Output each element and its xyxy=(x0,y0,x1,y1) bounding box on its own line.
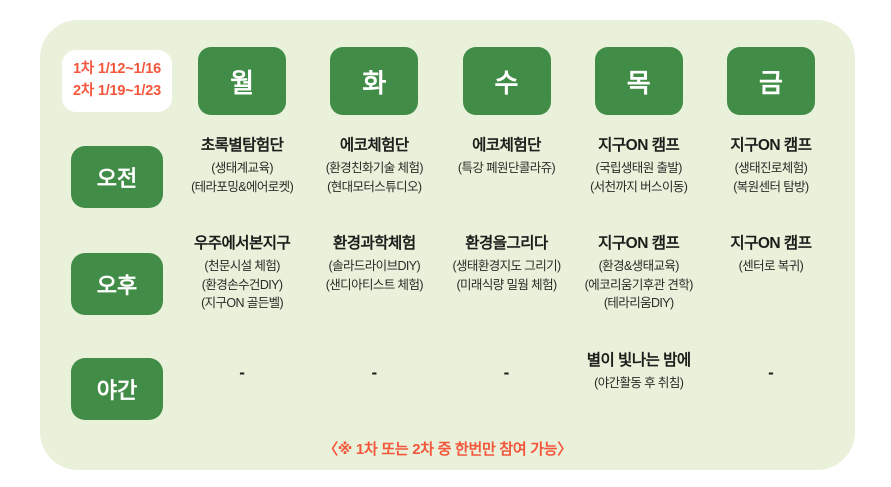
cell-afternoon-thu: 지구ON 캠프 (환경&생태교육) (에코리움기후관 견학) (테라리움DIY) xyxy=(573,226,705,341)
activity-title: 에코체험단 xyxy=(444,136,568,156)
time-chip-label: 오전 xyxy=(71,146,163,208)
cell-morning-thu: 지구ON 캠프 (국립생태원 출발) (서천까지 버스이동) xyxy=(573,128,705,226)
activity-detail: (복원센터 탐방) xyxy=(709,178,833,197)
cell-afternoon-wed: 환경을그리다 (생태환경지도 그리기) (미래식량 밀웜 체험) xyxy=(440,226,572,341)
activity-detail: (지구ON 골든벨) xyxy=(180,294,304,313)
activity-title: 지구ON 캠프 xyxy=(709,234,833,254)
day-header-mon: 월 xyxy=(176,47,308,115)
day-chip-label: 목 xyxy=(595,47,683,115)
empty-placeholder: - xyxy=(504,364,510,381)
day-header-fri: 금 xyxy=(705,47,837,115)
activity-detail: (환경친화기술 체험) xyxy=(312,159,436,178)
cell-night-thu: 별이 빛나는 밤에 (야간활동 후 취침) xyxy=(573,341,705,436)
cell-night-wed: - xyxy=(440,341,572,436)
activity-detail: (생태환경지도 그리기) xyxy=(444,257,568,276)
day-header-thu: 목 xyxy=(573,47,705,115)
day-header-wed: 수 xyxy=(440,47,572,115)
day-header-tue: 화 xyxy=(308,47,440,115)
activity-detail: (미래식량 밀웜 체험) xyxy=(444,276,568,295)
activity-title: 환경을그리다 xyxy=(444,234,568,254)
activity-detail: (생태계교육) xyxy=(180,159,304,178)
activity-detail: (솔라드라이브DIY) xyxy=(312,257,436,276)
activity-detail: (천문시설 체험) xyxy=(180,257,304,276)
time-chip-label: 오후 xyxy=(71,253,163,315)
row-label-cell: 야간 xyxy=(58,341,176,436)
activity-detail: (샌디아티스트 체험) xyxy=(312,276,436,295)
activity-title: 지구ON 캠프 xyxy=(709,136,833,156)
activity-detail: (현대모터스튜디오) xyxy=(312,178,436,197)
cell-morning-wed: 에코체험단 (특강 폐원단콜라쥬) xyxy=(440,128,572,226)
cell-afternoon-tue: 환경과학체험 (솔라드라이브DIY) (샌디아티스트 체험) xyxy=(308,226,440,341)
activity-detail: (테라리움DIY) xyxy=(577,294,701,313)
activity-detail: (야간활동 후 취침) xyxy=(594,374,683,393)
day-chip-label: 월 xyxy=(198,47,286,115)
activity-detail: (테라포밍&에어로켓) xyxy=(180,178,304,197)
cell-night-tue: - xyxy=(308,341,440,436)
legend-cell: 1차 1/12~1/16 2차 1/19~1/23 xyxy=(58,50,176,111)
activity-title: 초록별탐험단 xyxy=(180,136,304,156)
activity-detail: (생태진로체험) xyxy=(709,159,833,178)
time-chip-label: 야간 xyxy=(71,358,163,420)
cell-night-fri: - xyxy=(705,341,837,436)
schedule-card: 1차 1/12~1/16 2차 1/19~1/23 월 화 수 목 금 오전 초… xyxy=(40,20,855,470)
schedule-row-afternoon: 오후 우주에서본지구 (천문시설 체험) (환경손수건DIY) (지구ON 골든… xyxy=(58,226,837,341)
activity-detail: (에코리움기후관 견학) xyxy=(577,276,701,295)
activity-title: 별이 빛나는 밤에 xyxy=(587,351,691,371)
empty-placeholder: - xyxy=(768,364,774,381)
session-legend-box: 1차 1/12~1/16 2차 1/19~1/23 xyxy=(62,50,172,111)
cell-morning-fri: 지구ON 캠프 (생태진로체험) (복원센터 탐방) xyxy=(705,128,837,226)
legend-session-2: 2차 1/19~1/23 xyxy=(73,81,161,102)
day-chip-label: 금 xyxy=(727,47,815,115)
day-header-row: 1차 1/12~1/16 2차 1/19~1/23 월 화 수 목 금 xyxy=(58,34,837,128)
activity-title: 에코체험단 xyxy=(312,136,436,156)
cell-night-mon: - xyxy=(176,341,308,436)
activity-detail: (특강 폐원단콜라쥬) xyxy=(444,159,568,178)
activity-detail: (국립생태원 출발) xyxy=(577,159,701,178)
activity-title: 지구ON 캠프 xyxy=(577,136,701,156)
footer-note: 〈※ 1차 또는 2차 중 한번만 참여 가능〉 xyxy=(58,436,837,459)
activity-detail: (환경&생태교육) xyxy=(577,257,701,276)
empty-placeholder: - xyxy=(371,364,377,381)
schedule-row-night: 야간 - - - 별이 빛나는 밤에 (야간활동 후 취침) - xyxy=(58,341,837,436)
row-label-cell: 오전 xyxy=(58,128,176,226)
activity-detail: (서천까지 버스이동) xyxy=(577,178,701,197)
legend-session-1: 1차 1/12~1/16 xyxy=(73,59,161,80)
cell-afternoon-mon: 우주에서본지구 (천문시설 체험) (환경손수건DIY) (지구ON 골든벨) xyxy=(176,226,308,341)
cell-morning-mon: 초록별탐험단 (생태계교육) (테라포밍&에어로켓) xyxy=(176,128,308,226)
day-chip-label: 수 xyxy=(463,47,551,115)
schedule-row-morning: 오전 초록별탐험단 (생태계교육) (테라포밍&에어로켓) 에코체험단 (환경친… xyxy=(58,128,837,226)
empty-placeholder: - xyxy=(239,364,245,381)
cell-morning-tue: 에코체험단 (환경친화기술 체험) (현대모터스튜디오) xyxy=(308,128,440,226)
activity-detail: (센터로 복귀) xyxy=(709,257,833,276)
cell-afternoon-fri: 지구ON 캠프 (센터로 복귀) xyxy=(705,226,837,341)
day-chip-label: 화 xyxy=(330,47,418,115)
activity-detail: (환경손수건DIY) xyxy=(180,276,304,295)
activity-title: 환경과학체험 xyxy=(312,234,436,254)
activity-title: 지구ON 캠프 xyxy=(577,234,701,254)
activity-title: 우주에서본지구 xyxy=(180,234,304,254)
row-label-cell: 오후 xyxy=(58,226,176,341)
